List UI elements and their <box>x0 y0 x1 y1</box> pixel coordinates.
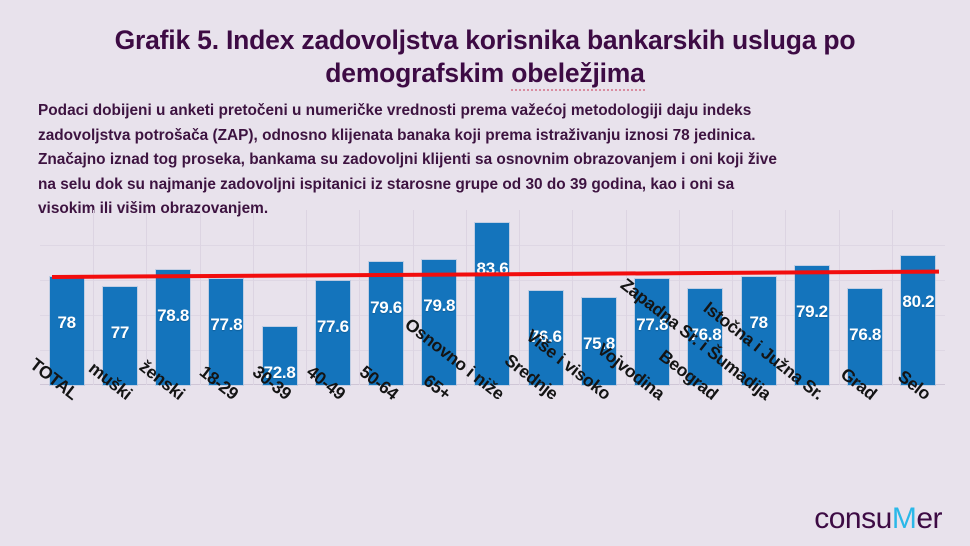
consumer-logo: consuMer <box>814 504 942 534</box>
bar-value-label: 77.6 <box>317 317 349 337</box>
bar-slot: 77.8 <box>200 210 253 385</box>
paragraph-line-1: Podaci dobijeni u anketi pretočeni u num… <box>38 99 934 124</box>
bar-value-label: 77 <box>111 323 129 343</box>
bar-value-label: 79.6 <box>370 298 402 318</box>
bar-value-label: 80.2 <box>902 292 934 312</box>
bar-value-label: 76.8 <box>849 325 881 345</box>
bar-value-label: 78 <box>57 313 75 333</box>
title-line-2-underlined: obeležjima <box>511 58 645 91</box>
paragraph-line-2: zadovoljstva potrošača (ZAP), odnosno kl… <box>38 124 934 149</box>
bar-slot: 79.2 <box>785 210 838 385</box>
title-line-2-prefix: demografskim <box>325 58 511 88</box>
bar-slot: 72.8 <box>253 210 306 385</box>
logo-part-3: er <box>916 502 942 535</box>
bar-slot: 77.6 <box>306 210 359 385</box>
page-title: Grafik 5. Index zadovoljstva korisnika b… <box>55 24 915 90</box>
bar-value-label: 78.8 <box>157 306 189 326</box>
bar-value-label: 77.8 <box>210 315 242 335</box>
paragraph-line-3: Značajno iznad tog proseka, bankama su z… <box>38 148 934 173</box>
bar-value-label: 79.2 <box>796 302 828 322</box>
chart-plot-area: 787778.877.872.877.679.679.883.676.675.8… <box>40 210 945 385</box>
bar-slot: 77 <box>93 210 146 385</box>
bar-slot: 78 <box>40 210 93 385</box>
logo-part-1: consu <box>814 502 892 535</box>
description-paragraph: Podaci dobijeni u anketi pretočeni u num… <box>38 99 934 222</box>
bar-slot: 79.6 <box>359 210 412 385</box>
title-line-2: demografskim obeležjima <box>55 57 915 90</box>
bar-value-label: 83.6 <box>477 259 509 279</box>
paragraph-line-4: na selu dok su najmanje zadovoljni ispit… <box>38 173 934 198</box>
bar-slot: 78.8 <box>146 210 199 385</box>
bar-slot: 80.2 <box>892 210 945 385</box>
bar-value-label: 79.8 <box>423 296 455 316</box>
slide-canvas: Grafik 5. Index zadovoljstva korisnika b… <box>0 0 970 546</box>
bar-slot: 76.8 <box>839 210 892 385</box>
title-line-1: Grafik 5. Index zadovoljstva korisnika b… <box>115 25 856 55</box>
logo-part-m: M <box>892 502 917 535</box>
